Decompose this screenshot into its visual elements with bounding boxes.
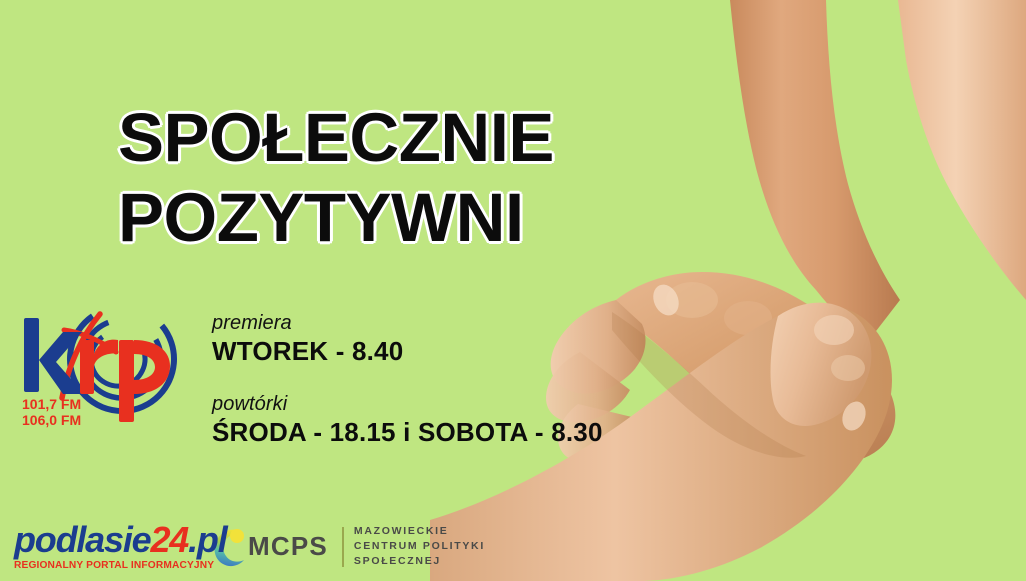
page-title: SPOŁECZNIE POZYTYWNI bbox=[118, 104, 554, 253]
mcps-full-name: MAZOWIECKIE CENTRUM POLITYKI SPOŁECZNEJ bbox=[354, 524, 485, 569]
krp-radio-logo: 101,7 FM 106,0 FM bbox=[18, 302, 188, 430]
title-line-2: POZYTYWNI bbox=[118, 184, 554, 252]
premiere-label: premiera bbox=[212, 311, 603, 336]
repeats-time: ŚRODA - 18.15 i SOBOTA - 8.30 bbox=[212, 417, 603, 448]
repeats-label: powtórki bbox=[212, 392, 603, 417]
premiere-block: premiera WTOREK - 8.40 bbox=[212, 311, 603, 367]
frequency-line-1: 101,7 FM bbox=[22, 396, 81, 412]
mcps-logo[interactable]: MCPS MAZOWIECKIE CENTRUM POLITYKI SPOŁEC… bbox=[210, 524, 485, 569]
footer-logos: podlasie24.pl REGIONALNY PORTAL INFORMAC… bbox=[0, 512, 470, 581]
logo-letter-p bbox=[119, 340, 170, 422]
mcps-name-line-2: CENTRUM POLITYKI bbox=[354, 539, 485, 554]
premiere-time: WTOREK - 8.40 bbox=[212, 336, 603, 367]
mcps-name-line-1: MAZOWIECKIE bbox=[354, 524, 485, 539]
podlasie-tld: .pl bbox=[188, 519, 226, 560]
mcps-name-line-3: SPOŁECZNEJ bbox=[354, 554, 485, 569]
poster-canvas: SPOŁECZNIE POZYTYWNI premiera WTOREK - 8… bbox=[0, 0, 1026, 581]
podlasie-text: podlasie bbox=[14, 519, 150, 560]
podlasie24-wordmark: podlasie24.pl bbox=[14, 522, 204, 558]
frequency-line-2: 106,0 FM bbox=[22, 412, 81, 428]
podlasie-tagline: REGIONALNY PORTAL INFORMACYJNY bbox=[14, 559, 198, 571]
mcps-divider bbox=[342, 527, 344, 567]
title-line-1: SPOŁECZNIE bbox=[118, 104, 554, 172]
broadcast-schedule: premiera WTOREK - 8.40 powtórki ŚRODA - … bbox=[212, 311, 603, 448]
podlasie24-logo[interactable]: podlasie24.pl REGIONALNY PORTAL INFORMAC… bbox=[14, 522, 204, 571]
repeats-block: powtórki ŚRODA - 18.15 i SOBOTA - 8.30 bbox=[212, 392, 603, 448]
podlasie-24: 24 bbox=[150, 519, 188, 560]
hands-photo bbox=[430, 0, 1026, 581]
mcps-abbreviation: MCPS bbox=[248, 531, 328, 562]
